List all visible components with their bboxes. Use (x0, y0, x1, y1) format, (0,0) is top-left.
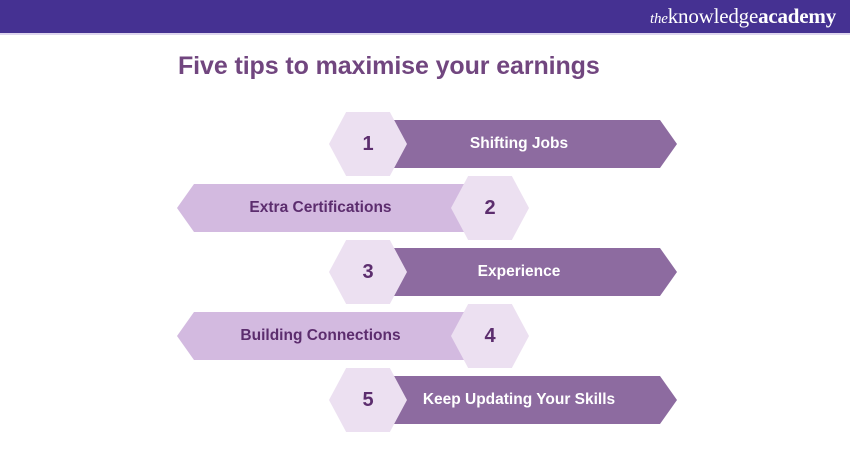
steps-list: Shifting Jobs 1 Extra Certifications 2 E… (0, 112, 850, 432)
step-label-5: Keep Updating Your Skills (423, 391, 615, 409)
logo-knowledge-text: knowledge (668, 4, 758, 28)
step-label-4: Building Connections (240, 327, 400, 345)
step-bar-3: Experience (363, 248, 677, 296)
step-number-2: 2 (484, 198, 495, 218)
step-row-5: Keep Updating Your Skills 5 (0, 368, 850, 432)
brand-logo: theknowledgeacademy (650, 6, 836, 27)
step-bar-4: Building Connections (177, 312, 490, 360)
step-row-1: Shifting Jobs 1 (0, 112, 850, 176)
step-bar-1: Shifting Jobs (363, 120, 677, 168)
step-row-2: Extra Certifications 2 (0, 176, 850, 240)
logo-the-text: the (650, 11, 668, 27)
step-label-2: Extra Certifications (249, 199, 391, 217)
step-row-4: Building Connections 4 (0, 304, 850, 368)
header-underline-divider (0, 33, 850, 35)
step-number-3: 3 (362, 262, 373, 282)
step-bar-2: Extra Certifications (177, 184, 490, 232)
step-number-4: 4 (484, 326, 495, 346)
step-label-3: Experience (478, 263, 561, 281)
logo-academy-text: academy (758, 4, 836, 28)
step-number-1: 1 (362, 134, 373, 154)
step-bar-5: Keep Updating Your Skills (363, 376, 677, 424)
header-band: theknowledgeacademy (0, 0, 850, 33)
step-number-5: 5 (362, 390, 373, 410)
step-row-3: Experience 3 (0, 240, 850, 304)
step-label-1: Shifting Jobs (470, 135, 568, 153)
page-title: Five tips to maximise your earnings (178, 52, 600, 81)
